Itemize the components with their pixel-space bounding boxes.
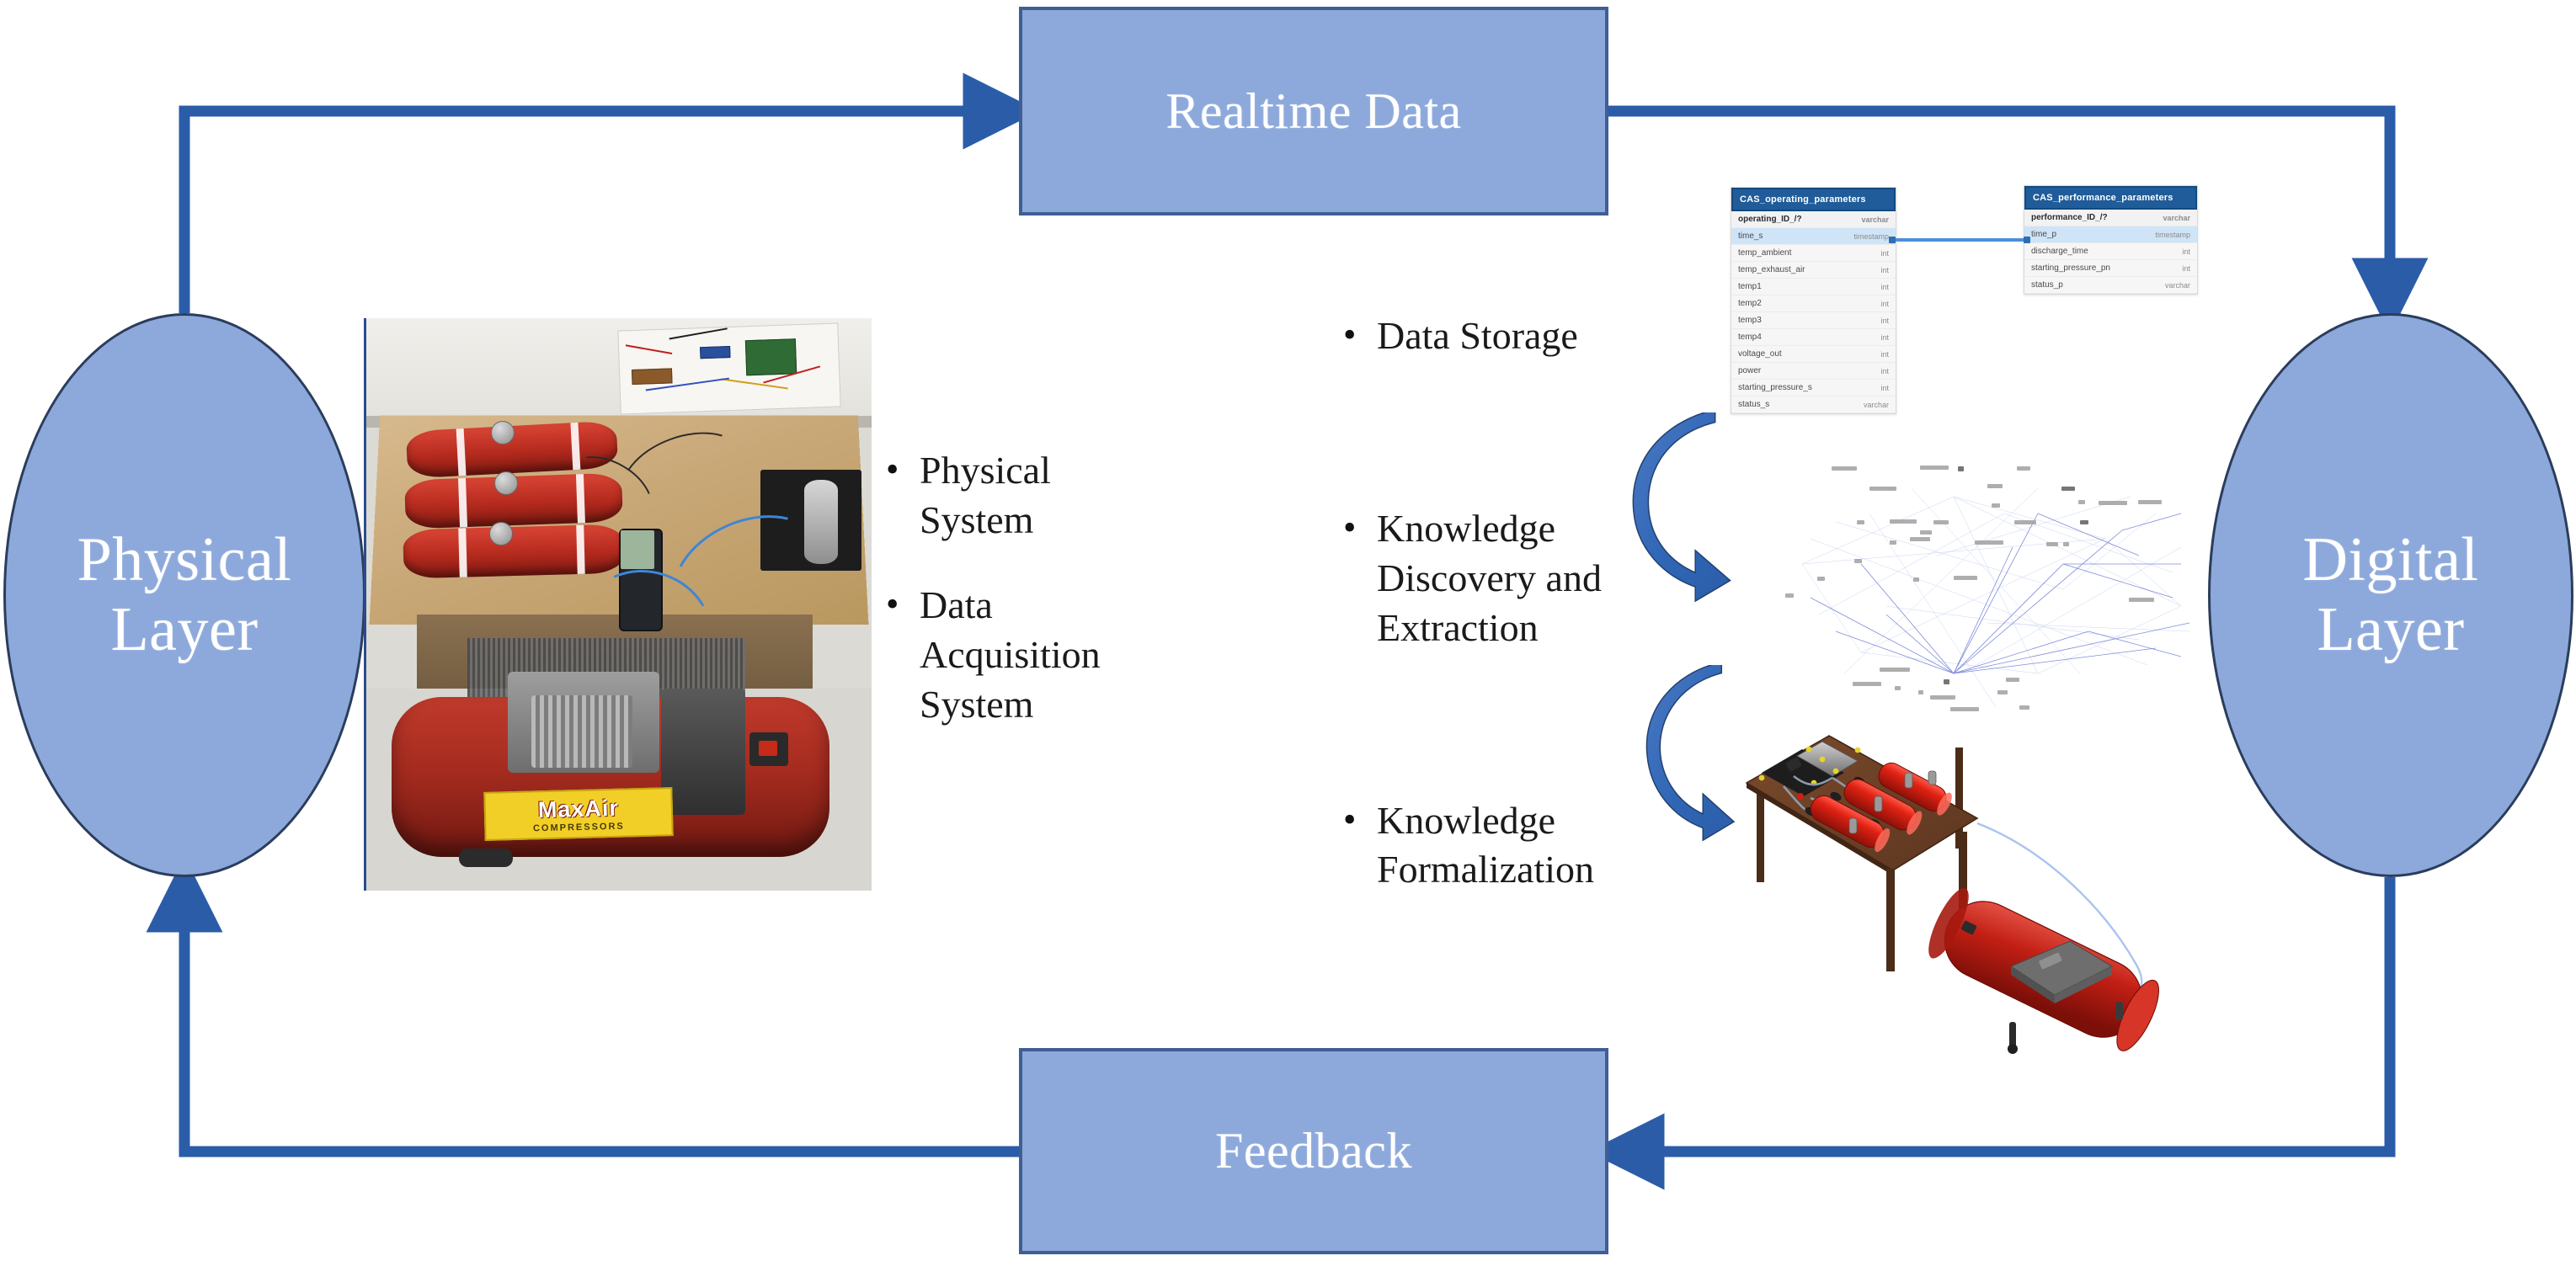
db-field-type: varchar [2163, 214, 2190, 222]
db-field-type: timestamp [2155, 231, 2190, 239]
db-field-name: status_s [1738, 400, 1769, 409]
db-row[interactable]: time_s timestamp [1731, 228, 1896, 245]
arrow-physical-to-realtime [184, 111, 998, 313]
db-row[interactable]: time_p timestamp [2024, 226, 2197, 243]
db-row[interactable]: voltage_out int [1731, 346, 1896, 363]
tank-valve-1 [491, 421, 515, 444]
meter-screen [621, 530, 654, 569]
db-row[interactable]: power int [1731, 363, 1896, 380]
db-field-name: voltage_out [1738, 349, 1782, 359]
db-field-type: int [1880, 266, 1889, 274]
physical-layer-node[interactable]: Physical Layer [3, 313, 365, 877]
db-row[interactable]: performance_ID_/? varchar [2024, 210, 2197, 226]
db-row[interactable]: temp3 int [1731, 312, 1896, 329]
bullet-line: Data [920, 583, 993, 626]
db-table-performance-parameters[interactable]: CAS_performance_parameters performance_I… [2024, 185, 2198, 295]
physical-layer-label: Physical Layer [31, 525, 339, 665]
db-table-title: CAS_performance_parameters [2024, 186, 2197, 210]
db-field-type: varchar [2165, 281, 2190, 290]
bullet-line: System [920, 498, 1033, 541]
db-table-title: CAS_operating_parameters [1731, 188, 1896, 211]
db-field-name: performance_ID_/? [2031, 213, 2108, 222]
bullet-marker-icon: • [1343, 504, 1377, 551]
db-row[interactable]: starting_pressure_pn int [2024, 260, 2197, 277]
db-field-type: int [1880, 384, 1889, 392]
feedback-label: Feedback [1215, 1122, 1412, 1180]
compressor-wheel [459, 849, 513, 867]
db-field-name: power [1738, 366, 1761, 375]
bullet-physical-system: • Physical System [886, 446, 1164, 545]
db-field-name: starting_pressure_pn [2031, 263, 2110, 273]
db-row[interactable]: status_p varchar [2024, 277, 2197, 294]
knowledge-graph-figure [1785, 463, 2215, 732]
maxair-brand-label: MaxAir COMPRESSORS [483, 787, 673, 841]
db-relationship-connector [1892, 238, 2027, 242]
bullet-marker-icon: • [886, 581, 920, 628]
maxair-brand-subtitle: COMPRESSORS [533, 821, 625, 833]
bullet-marker-icon: • [1343, 311, 1377, 359]
db-table-operating-parameters[interactable]: CAS_operating_parameters operating_ID_/?… [1731, 187, 1896, 414]
db-field-type: int [1880, 333, 1889, 342]
db-field-name: temp4 [1738, 333, 1762, 342]
db-field-type: varchar [1864, 401, 1889, 409]
arrow-feedback-to-physical [184, 897, 1019, 1152]
arrow-realtime-to-digital [1608, 111, 2390, 293]
db-field-name: temp_ambient [1738, 248, 1791, 258]
compressor-power-switch-button [759, 741, 777, 756]
db-field-type: timestamp [1853, 232, 1889, 241]
db-row[interactable]: discharge_time int [2024, 243, 2197, 260]
db-field-name: temp_exhaust_air [1738, 265, 1805, 274]
physical-system-photo: MaxAir COMPRESSORS [364, 318, 872, 891]
realtime-data-node[interactable]: Realtime Data [1019, 7, 1608, 215]
compressor-cylinder-fins [531, 695, 632, 768]
db-field-name: temp2 [1738, 299, 1762, 308]
digital-layer-node[interactable]: Digital Layer [2208, 313, 2573, 877]
bullet-data-storage: • Data Storage [1343, 311, 1680, 361]
db-field-type: int [1880, 350, 1889, 359]
db-field-type: int [1880, 283, 1889, 291]
db-field-name: temp3 [1738, 316, 1762, 325]
db-field-name: starting_pressure_s [1738, 383, 1812, 392]
physical-layer-bullet-list: • Physical System • Data Acquisition Sys… [886, 446, 1164, 764]
bullet-marker-icon: • [1343, 796, 1377, 843]
red-tank-3 [403, 524, 624, 579]
maxair-brand-name: MaxAir [537, 795, 619, 823]
db-field-type: varchar [1861, 215, 1889, 224]
db-row[interactable]: temp_ambient int [1731, 245, 1896, 262]
db-field-type: int [1880, 317, 1889, 325]
digital-layer-label: Digital Layer [2236, 525, 2546, 665]
db-row[interactable]: temp1 int [1731, 279, 1896, 295]
db-field-name: temp1 [1738, 282, 1762, 291]
diagram-canvas: Physical Layer Digital Layer Realtime Da… [0, 0, 2576, 1261]
curved-arrow-storage-to-discovery [1625, 412, 1836, 606]
bullet-knowledge-formalization: • Knowledge Formalization [1343, 796, 1680, 896]
bullet-line: Knowledge [1377, 507, 1555, 550]
bullet-line: Discovery and [1377, 556, 1602, 599]
db-row[interactable]: temp4 int [1731, 329, 1896, 346]
db-row[interactable]: temp_exhaust_air int [1731, 262, 1896, 279]
db-field-type: int [2182, 264, 2190, 273]
bullet-data-acquisition-system: • Data Acquisition System [886, 581, 1164, 730]
bullet-line: Acquisition [920, 633, 1101, 676]
db-field-name: time_p [2031, 230, 2056, 239]
db-field-type: int [1880, 300, 1889, 308]
breadboard-electronics [617, 322, 840, 414]
cad-model-figure [1709, 724, 2215, 1061]
tank-valve-3 [489, 522, 513, 545]
db-field-name: time_s [1738, 231, 1763, 241]
db-field-type: int [2182, 247, 2190, 256]
tank-valve-2 [494, 471, 518, 495]
db-field-name: status_p [2031, 280, 2063, 290]
db-row[interactable]: starting_pressure_s int [1731, 380, 1896, 396]
bullet-marker-icon: • [886, 446, 920, 493]
realtime-data-label: Realtime Data [1165, 82, 1461, 141]
bullet-line: Data Storage [1377, 314, 1578, 357]
db-row[interactable]: temp2 int [1731, 295, 1896, 312]
db-row[interactable]: status_s varchar [1731, 396, 1896, 413]
db-field-type: int [1880, 367, 1889, 375]
db-field-name: discharge_time [2031, 247, 2088, 256]
db-field-type: int [1880, 249, 1889, 258]
db-row[interactable]: operating_ID_/? varchar [1731, 211, 1896, 228]
db-field-name: operating_ID_/? [1738, 215, 1802, 224]
bullet-line: Physical [920, 449, 1051, 492]
bullet-line: Formalization [1377, 848, 1594, 891]
compressor-motor-cover [661, 689, 745, 815]
bullet-line: Knowledge [1377, 799, 1555, 842]
bullet-line: Extraction [1377, 606, 1539, 649]
bullet-line: System [920, 683, 1033, 726]
feedback-node[interactable]: Feedback [1019, 1048, 1608, 1254]
